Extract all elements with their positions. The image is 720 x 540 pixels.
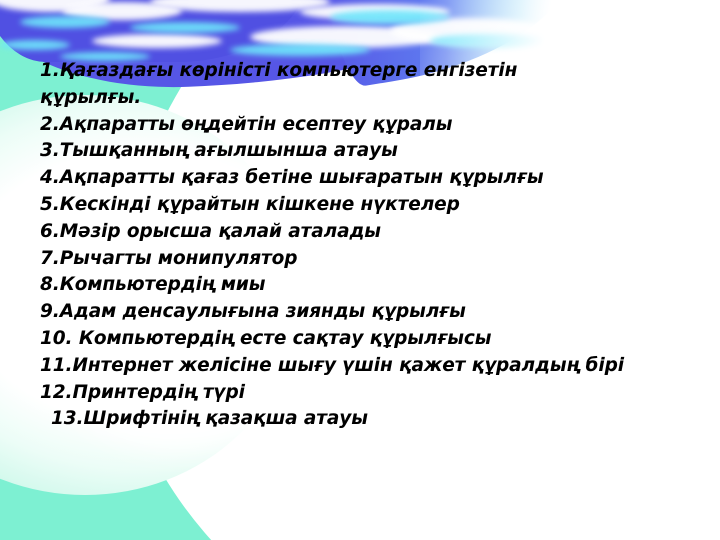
slide-content: 1.Қағаздағы көріністі компьютерге енгізе…: [0, 0, 720, 540]
question-line: 6.Мәзір орысша қалай аталады: [40, 219, 720, 246]
question-line: 11.Интернет желісіне шығу үшін қажет құр…: [40, 353, 720, 380]
question-list: 1.Қағаздағы көріністі компьютерге енгізе…: [40, 58, 720, 433]
question-line: 1.Қағаздағы көріністі компьютерге енгізе…: [40, 58, 720, 85]
question-line: 3.Тышқанның ағылшынша атауы: [40, 138, 720, 165]
question-line: 8.Компьютердің миы: [40, 272, 720, 299]
presentation-slide: 1.Қағаздағы көріністі компьютерге енгізе…: [0, 0, 720, 540]
question-line: 2.Ақпаратты өңдейтін есептеу құралы: [40, 112, 720, 139]
question-line: 13.Шрифтінің қазақша атауы: [40, 406, 720, 433]
question-line: 12.Принтердің түрі: [40, 380, 720, 407]
question-line: құрылғы.: [40, 85, 720, 112]
question-line: 10. Компьютердің есте сақтау құрылғысы: [40, 326, 720, 353]
question-line: 4.Ақпаратты қағаз бетіне шығаратын құрыл…: [40, 165, 720, 192]
question-line: 7.Рычагты монипулятор: [40, 246, 720, 273]
question-line: 5.Кескінді құрайтын кішкене нүктелер: [40, 192, 720, 219]
question-line: 9.Адам денсаулығына зиянды құрылғы: [40, 299, 720, 326]
